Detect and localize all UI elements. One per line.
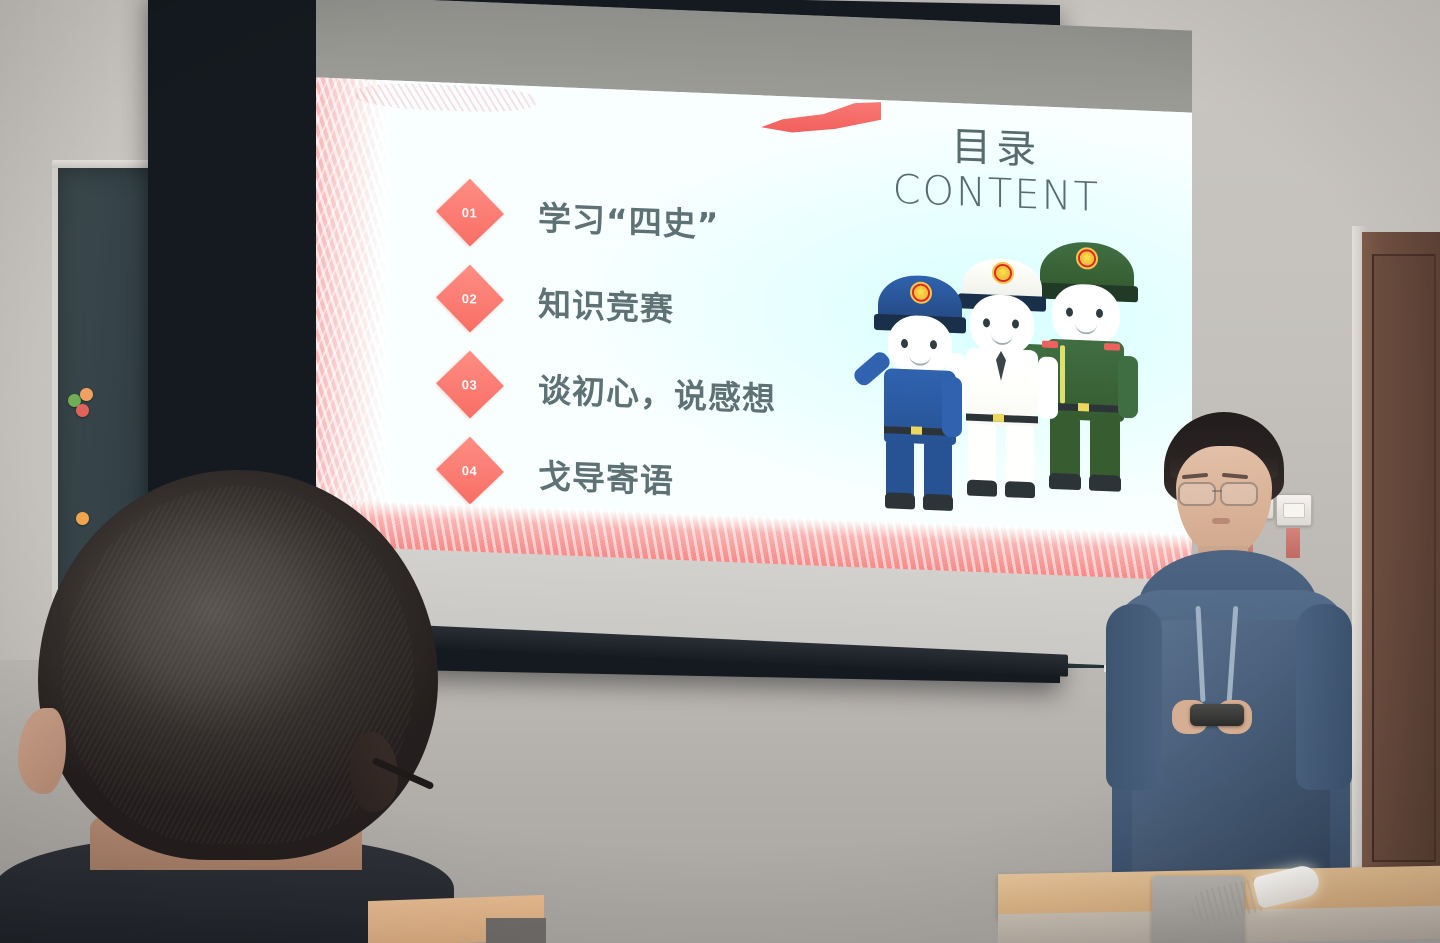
eye-left [901,339,908,348]
magnet-orange [80,388,93,401]
leg-right [924,442,952,501]
microphone-handle [1252,863,1322,910]
eye-left [983,318,990,327]
face [970,294,1034,357]
epaulette-right [1104,343,1120,351]
leg-right [1006,425,1034,488]
slide-title-block: 目录 CONTENT [893,123,1100,221]
smile [991,333,1013,346]
arm-right [1038,356,1058,419]
toc-label: 谈初心，说感想 [538,363,776,421]
eyeglass-lens-left [1178,482,1216,506]
arm-down [942,377,962,438]
smile [909,353,931,366]
toc-number: 01 [462,205,477,221]
hoodie-sleeve-right [1296,604,1352,790]
star-badge-icon [1076,247,1098,270]
uniform-strap [1060,345,1065,403]
toc-number: 02 [462,291,477,307]
toc-label: 知识竞赛 [538,277,674,330]
star-badge-icon [910,281,932,304]
classroom-door[interactable] [1362,232,1440,892]
eye-right [1096,309,1103,318]
leg-left [886,440,914,499]
presentation-clicker[interactable] [1190,704,1244,726]
toc-number: 03 [462,377,477,393]
foreground-student [14,470,454,943]
eye-left [1066,308,1073,317]
eyeglass-lens-right [1220,482,1258,506]
eye-right [1012,319,1019,328]
shoe-right [923,494,953,511]
toc-label: 戈导寄语 [538,449,674,502]
classroom-scene: 目录 CONTENT [0,0,1440,943]
face [1052,283,1120,348]
star-badge-icon [992,262,1014,285]
presenter [1078,404,1368,894]
toc-number: 04 [462,463,477,479]
smile [1075,322,1097,335]
foreground-desk-object [486,918,546,943]
door-panel [1372,254,1436,862]
hoodie-sleeve-left [1106,604,1162,790]
eye-right [930,340,937,349]
cartoon-soldier-police-blue [866,274,976,518]
eyeglass-bridge [1212,490,1222,492]
presenter-mouth [1212,518,1230,524]
toc-number-diamond: 02 [436,265,504,333]
toc-number-diamond: 01 [436,179,504,247]
belt-buckle [911,426,922,434]
toc-number-diamond: 03 [436,351,504,419]
shoe-right [1005,481,1035,498]
belt-buckle [993,414,1004,422]
face [888,314,952,377]
student-ear-left [18,708,66,794]
slide-table-of-contents: 01 学习“四史” 02 知识竞赛 03 谈初心，说感 [446,169,876,530]
magnet-red [76,404,89,417]
toc-label: 学习“四史” [538,191,719,246]
slide-title-english: CONTENT [893,167,1100,221]
red-flag-icon [761,97,881,136]
shoe-left [885,492,915,509]
